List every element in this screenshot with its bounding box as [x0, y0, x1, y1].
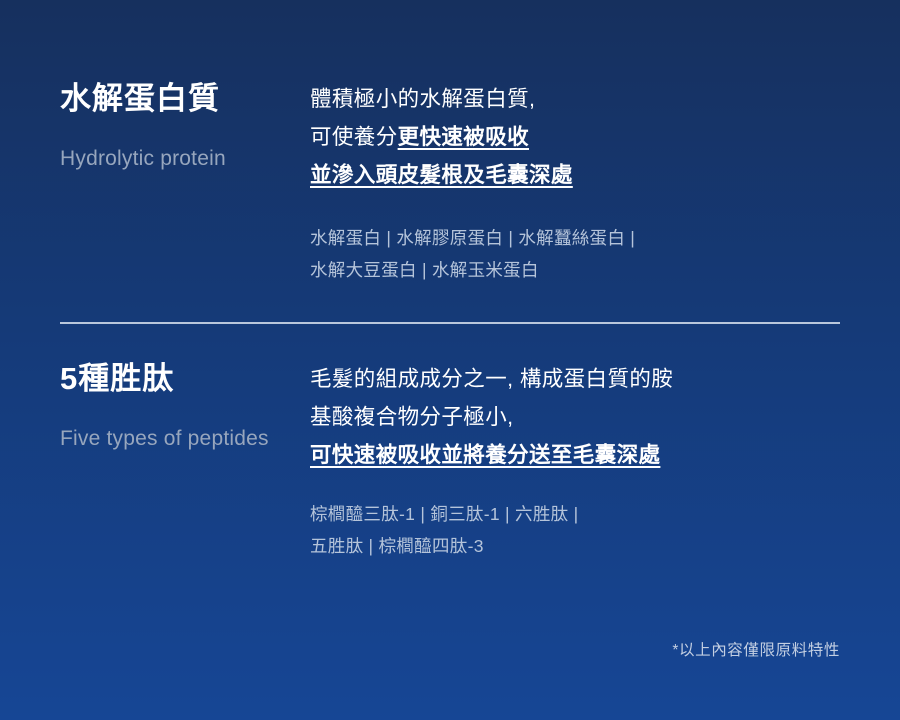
section-2-heading-cn: 5種胜肽 — [60, 360, 310, 399]
section-2-body-line-3-emphasis: 可快速被吸收並將養分送至毛囊深處 — [310, 443, 660, 467]
section-2-body-line-1-text: 毛髮的組成成分之一, 構成蛋白質的胺 — [310, 367, 673, 391]
footnote-disclaimer: *以上內容僅限原料特性 — [672, 638, 840, 660]
section-1-heading-en: Hydrolytic protein — [60, 145, 310, 172]
section-1-ingredient-line-2: 水解大豆蛋白 | 水解玉米蛋白 — [310, 254, 840, 286]
section-2-ingredient-line-2: 五胜肽 | 棕櫚醯四肽-3 — [310, 530, 840, 562]
section-2-body-line-2-text: 基酸複合物分子極小, — [310, 405, 513, 429]
section-five-peptides: 5種胜肽 Five types of peptides 毛髮的組成成分之一, 構… — [0, 360, 900, 562]
section-1-body-line-2-plain: 可使養分 — [310, 125, 398, 149]
section-2-ingredient-line-1: 棕櫚醯三肽-1 | 銅三肽-1 | 六胜肽 | — [310, 498, 840, 530]
section-2-body-copy: 毛髮的組成成分之一, 構成蛋白質的胺 基酸複合物分子極小, 可快速被吸收並將養分… — [310, 360, 840, 474]
section-divider — [60, 322, 840, 324]
section-1-ingredient-line-1: 水解蛋白 | 水解膠原蛋白 | 水解蠶絲蛋白 | — [310, 222, 840, 254]
section-2-heading-en: Five types of peptides — [60, 425, 310, 452]
section-1-title-column: 水解蛋白質 Hydrolytic protein — [0, 80, 310, 172]
section-1-content-column: 體積極小的水解蛋白質, 可使養分更快速被吸收 並滲入頭皮髮根及毛囊深處 水解蛋白… — [310, 80, 900, 286]
section-hydrolytic-protein: 水解蛋白質 Hydrolytic protein 體積極小的水解蛋白質, 可使養… — [0, 80, 900, 286]
section-1-body-line-3: 並滲入頭皮髮根及毛囊深處 — [310, 156, 840, 194]
section-1-body-line-3-emphasis: 並滲入頭皮髮根及毛囊深處 — [310, 163, 573, 187]
section-2-body-line-3: 可快速被吸收並將養分送至毛囊深處 — [310, 436, 840, 474]
section-2-content-column: 毛髮的組成成分之一, 構成蛋白質的胺 基酸複合物分子極小, 可快速被吸收並將養分… — [310, 360, 900, 562]
ingredient-info-poster: 水解蛋白質 Hydrolytic protein 體積極小的水解蛋白質, 可使養… — [0, 0, 900, 720]
section-2-body-line-1: 毛髮的組成成分之一, 構成蛋白質的胺 — [310, 360, 840, 398]
section-1-body-line-1: 體積極小的水解蛋白質, — [310, 80, 840, 118]
section-2-body-line-2: 基酸複合物分子極小, — [310, 398, 840, 436]
section-1-ingredient-list: 水解蛋白 | 水解膠原蛋白 | 水解蠶絲蛋白 | 水解大豆蛋白 | 水解玉米蛋白 — [310, 222, 840, 286]
section-2-ingredient-list: 棕櫚醯三肽-1 | 銅三肽-1 | 六胜肽 | 五胜肽 | 棕櫚醯四肽-3 — [310, 498, 840, 562]
section-1-heading-cn: 水解蛋白質 — [60, 80, 310, 119]
section-1-body-line-2: 可使養分更快速被吸收 — [310, 118, 840, 156]
section-1-body-copy: 體積極小的水解蛋白質, 可使養分更快速被吸收 並滲入頭皮髮根及毛囊深處 — [310, 80, 840, 194]
section-1-body-line-1-text: 體積極小的水解蛋白質, — [310, 87, 535, 111]
section-2-title-column: 5種胜肽 Five types of peptides — [0, 360, 310, 452]
section-1-body-line-2-emphasis: 更快速被吸收 — [398, 125, 529, 149]
